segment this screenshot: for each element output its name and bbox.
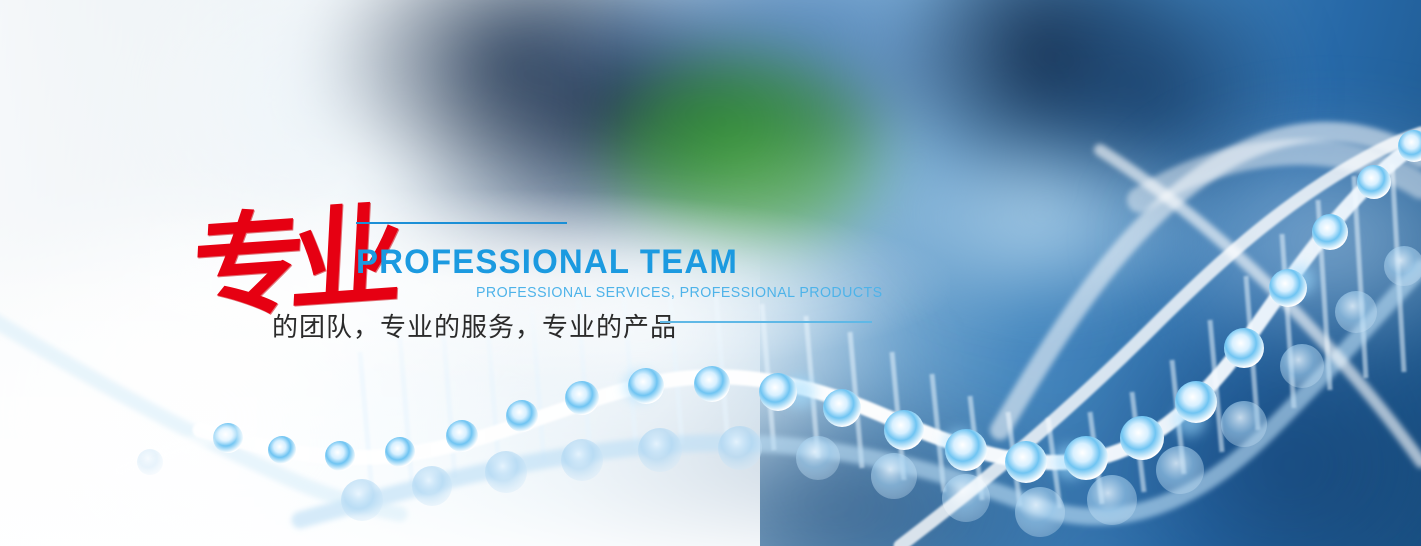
banner-headline: PROFESSIONAL TEAM: [356, 243, 738, 282]
banner-subheadline: PROFESSIONAL SERVICES, PROFESSIONAL PROD…: [476, 285, 883, 301]
banner-content: 专业 PROFESSIONAL TEAM PROFESSIONAL SERVIC…: [0, 0, 1421, 546]
hero-banner: 专业 PROFESSIONAL TEAM PROFESSIONAL SERVIC…: [0, 0, 1421, 546]
banner-chinese-tagline: 的团队，专业的服务，专业的产品: [272, 307, 677, 344]
divider-line-top: [356, 222, 567, 224]
divider-line-bottom: [660, 321, 872, 323]
